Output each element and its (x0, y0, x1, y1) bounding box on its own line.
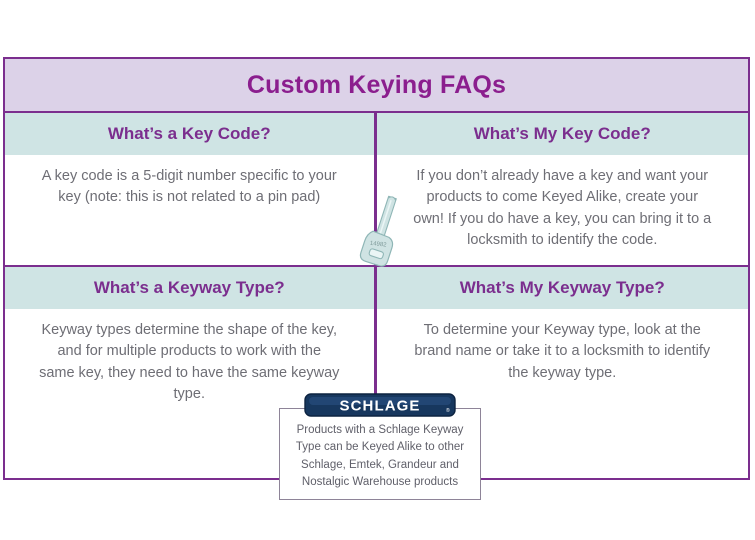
faq-heading-band: What’s My Key Code? (377, 113, 749, 155)
faq-heading-band: What’s a Keyway Type? (5, 267, 374, 309)
faq-cell-my-keyway-type: What’s My Keyway Type? To determine your… (377, 267, 749, 414)
faq-row-2: What’s a Keyway Type? Keyway types deter… (5, 267, 748, 414)
faq-heading-text: What’s My Key Code? (474, 124, 651, 144)
faq-body-text: If you don’t already have a key and want… (411, 166, 715, 252)
schlage-note-text: Products with a Schlage Keyway Type can … (289, 422, 471, 492)
faq-heading-text: What’s a Key Code? (108, 124, 271, 144)
schlage-callout-block: SCHLAGE ® Products with a Schlage Keyway… (279, 393, 481, 500)
infographic-title-band: Custom Keying FAQs (5, 59, 748, 113)
faq-body: A key code is a 5-digit number specific … (5, 155, 374, 265)
faq-heading-band: What’s a Key Code? (5, 113, 374, 155)
faq-body-text: To determine your Keyway type, look at t… (411, 320, 715, 384)
custom-keying-faq-infographic: Custom Keying FAQs What’s a Key Code? A … (3, 57, 750, 480)
faq-heading-band: What’s My Keyway Type? (377, 267, 749, 309)
faq-body: If you don’t already have a key and want… (377, 155, 749, 265)
faq-heading-text: What’s a Keyway Type? (94, 278, 285, 298)
schlage-wordmark: SCHLAGE (339, 398, 420, 415)
faq-heading-text: What’s My Keyway Type? (460, 278, 665, 298)
faq-cell-keyway-type: What’s a Keyway Type? Keyway types deter… (5, 267, 377, 414)
registered-trademark-icon: ® (446, 407, 450, 414)
page-title: Custom Keying FAQs (247, 71, 506, 100)
faq-cell-my-key-code: What’s My Key Code? If you don’t already… (377, 113, 749, 265)
faq-body-text: A key code is a 5-digit number specific … (39, 166, 340, 209)
schlage-note-box: Products with a Schlage Keyway Type can … (279, 408, 481, 500)
faq-cell-key-code: What’s a Key Code? A key code is a 5-dig… (5, 113, 377, 265)
schlage-logo: SCHLAGE ® (304, 393, 456, 417)
faq-row-1: What’s a Key Code? A key code is a 5-dig… (5, 113, 748, 265)
